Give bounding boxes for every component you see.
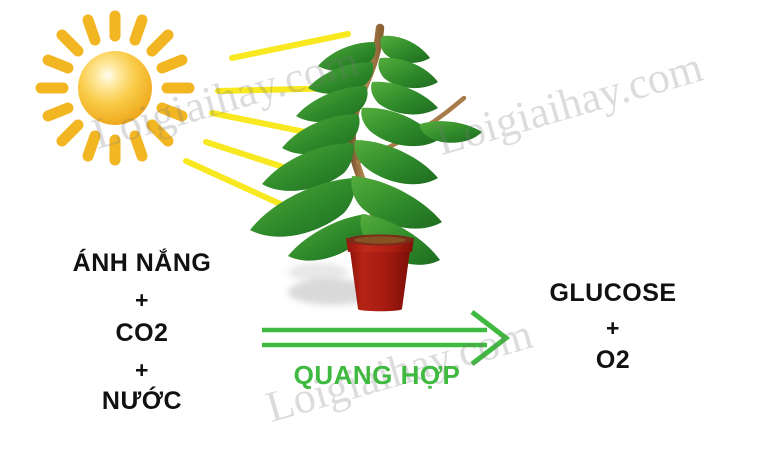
pot-soil-inner xyxy=(354,236,406,243)
product-plus: + xyxy=(606,315,620,342)
reactant-sunlight: ÁNH NẮNG xyxy=(73,249,212,278)
product-glucose: GLUCOSE xyxy=(549,279,676,308)
reactant-plus-2: + xyxy=(135,357,149,384)
reactant-plus-1: + xyxy=(135,287,149,314)
pot-body xyxy=(349,243,411,311)
reactant-water: NƯỚC xyxy=(102,387,182,416)
product-o2: O2 xyxy=(596,346,630,375)
reactant-co2: CO2 xyxy=(116,319,169,348)
process-label: QUANG HỢP xyxy=(294,360,461,391)
photosynthesis-diagram: Loigiaihay.com Loigiaihay.com Loigiaihay… xyxy=(0,0,760,453)
